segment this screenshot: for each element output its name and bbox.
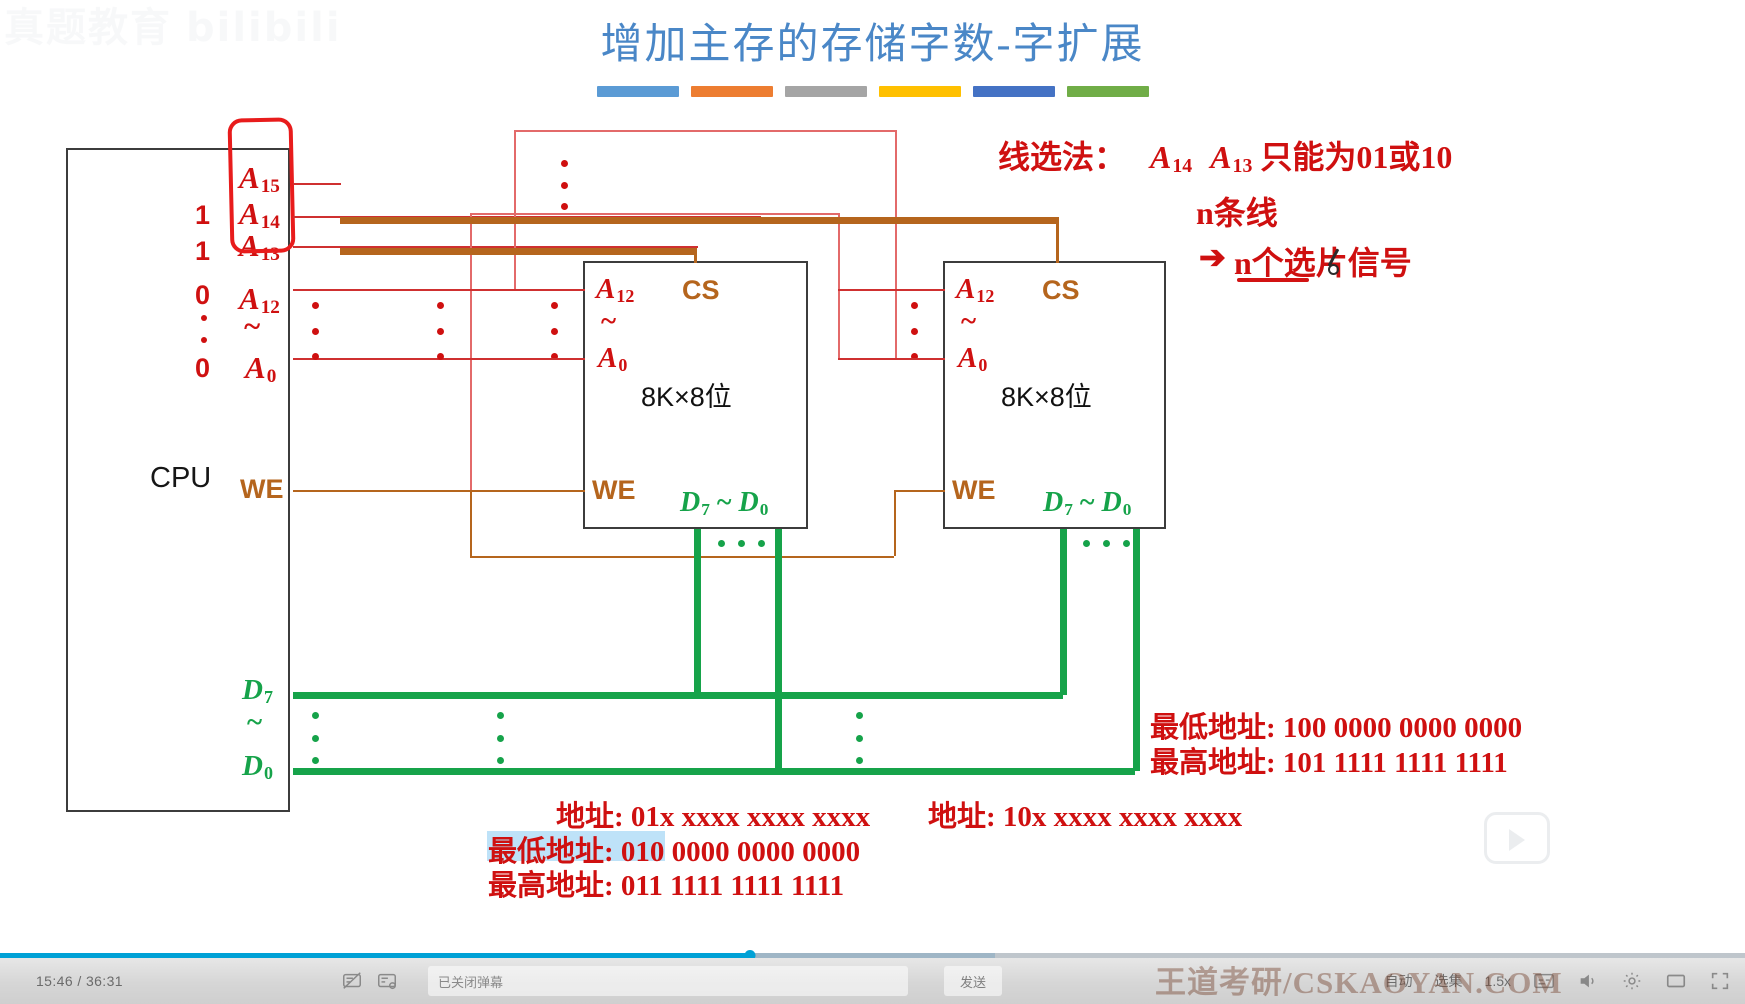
- send-danmaku-button[interactable]: 发送: [944, 966, 1002, 996]
- left-chip-highest-address-label: 最高地址:: [488, 870, 614, 902]
- wire-we-right-chip: [894, 490, 945, 492]
- annotation-arrow: ➔: [1199, 238, 1226, 276]
- time-total: 36:31: [86, 973, 123, 989]
- data-bus-ellipsis-b: [497, 712, 504, 764]
- wire-data-left-chip-d0: [775, 529, 782, 771]
- wire-data-right-chip-d0: [1133, 529, 1140, 771]
- wire-top-bus: [514, 130, 895, 132]
- cpu-bit-a0: 0: [195, 355, 210, 382]
- cpu-bit-a14: 1: [195, 202, 210, 229]
- chip-right-data-pins: D7 ~ D0: [1043, 489, 1131, 518]
- cpu-bit-a13: 1: [195, 238, 210, 265]
- chip-right-addr-ellipsis: [911, 302, 918, 360]
- wire-we-from-cpu: [293, 490, 585, 492]
- data-bus-ellipsis-a: [312, 712, 319, 764]
- danmaku-settings-icon[interactable]: [376, 970, 398, 992]
- cpu-pin-we: WE: [240, 476, 284, 503]
- bilibili-tv-logo-icon: [1484, 812, 1550, 864]
- right-chip-address-pattern: 地址: 10x xxxx xxxx xxxx: [928, 793, 1242, 835]
- danmaku-off-icon[interactable]: [341, 970, 363, 992]
- send-button-label: 发送: [960, 972, 986, 991]
- danmaku-input[interactable]: 已关闭弹幕: [428, 966, 908, 996]
- wire-top-bus-right-drop: [895, 130, 897, 360]
- slide-canvas: 真题教育bilibili 增加主存的存储字数-字扩展 CPU A15 A14 A…: [0, 0, 1745, 1004]
- auto-play-toggle[interactable]: 自动: [1385, 971, 1413, 991]
- rule-segment-3: [785, 86, 867, 97]
- data-bus-ellipsis-right: [1083, 540, 1130, 547]
- right-chip-highest-address: 最高地址: 101 1111 1111 1111: [1150, 739, 1508, 781]
- chip-right-addr-tilde: ~: [960, 307, 977, 336]
- wire-cs-right-horizontal: [340, 217, 1058, 224]
- wire-cs-left-horizontal: [340, 248, 695, 255]
- wire-right-chip-a12: [838, 289, 945, 291]
- chip-left-addr-ellipsis: [551, 302, 558, 360]
- left-chip-highest-address-value: 011 1111 1111 1111: [621, 870, 844, 902]
- wire-data-main-d0: [293, 768, 1135, 775]
- addr-bus-ellipsis-a: [312, 302, 319, 360]
- chip-left-cs-pin: CS: [682, 277, 720, 304]
- annotation-line-select-label: 线选法：: [998, 139, 1126, 175]
- chip-right-addr-low: A0: [958, 344, 987, 374]
- rule-segment-6: [1067, 86, 1149, 97]
- annotation-line-select-row: 线选法： A14 A13 只能为01或10: [998, 132, 1452, 178]
- title-accent-rule: [597, 86, 1149, 97]
- addr-bus-ellipsis-top: [561, 160, 568, 210]
- data-bus-ellipsis-left: [718, 540, 765, 547]
- wire-rail-2-right-drop: [838, 213, 840, 360]
- chip-left-addr-high: A12: [596, 275, 634, 305]
- time-separator: /: [77, 973, 81, 989]
- subtitle-icon[interactable]: [1533, 970, 1555, 992]
- chip-right-we-pin: WE: [952, 477, 996, 504]
- annotation-a14: A14: [1150, 139, 1192, 175]
- wire-we-right-rise: [894, 490, 896, 556]
- widescreen-icon[interactable]: [1665, 970, 1687, 992]
- cpu-pin-a0: A0: [245, 352, 276, 386]
- annotation-n-lines: n条线: [1196, 188, 1278, 234]
- wire-we-branch-down: [470, 490, 472, 556]
- chip-left-data-pins: D7 ~ D0: [680, 489, 768, 518]
- left-chip-highest-address: 最高地址: 011 1111 1111 1111: [488, 862, 844, 904]
- wire-a15-stub: [293, 183, 341, 185]
- chip-left-addr-tilde: ~: [600, 307, 617, 336]
- video-player-controls: 15:46 / 36:31 已关闭弹幕 发送 自动 选集: [0, 958, 1745, 1004]
- wire-rail-2: [470, 213, 838, 215]
- wire-left-chip-a12: [293, 289, 585, 291]
- wire-we-lower-rail: [470, 556, 894, 558]
- rule-segment-5: [973, 86, 1055, 97]
- right-chip-highest-address-label: 最高地址:: [1150, 747, 1276, 779]
- cpu-pin-tilde: ~: [243, 310, 261, 341]
- addr-bus-ellipsis-b: [437, 302, 444, 360]
- cpu-bit-ellipsis: [200, 315, 207, 343]
- gear-icon[interactable]: [1621, 970, 1643, 992]
- time-current: 15:46: [36, 973, 73, 989]
- cpu-pin-data-tilde: ~: [246, 708, 263, 737]
- playback-time: 15:46 / 36:31: [36, 973, 123, 989]
- annotation-a13: A13: [1210, 139, 1252, 175]
- right-chip-highest-address-value: 101 1111 1111 1111: [1283, 747, 1508, 779]
- data-bus-ellipsis-c: [856, 712, 863, 764]
- cpu-label: CPU: [150, 464, 211, 493]
- playback-speed-button[interactable]: 1.5x: [1485, 973, 1511, 989]
- wire-cs-left-drop: [694, 248, 697, 263]
- wire-data-right-chip-d7: [1060, 529, 1067, 695]
- chip-right-capacity: 8K×8位: [1001, 384, 1092, 411]
- wire-cs-right-drop: [1056, 217, 1059, 263]
- wire-right-chip-a0: [838, 358, 945, 360]
- danmaku-placeholder: 已关闭弹幕: [438, 972, 503, 991]
- rule-segment-4: [879, 86, 961, 97]
- cpu-pin-d7: D7: [242, 676, 273, 706]
- cpu-pin-d0: D0: [242, 752, 273, 782]
- rule-segment-2: [691, 86, 773, 97]
- chip-right-addr-high: A12: [956, 275, 994, 305]
- volume-icon[interactable]: [1577, 970, 1599, 992]
- annotation-conclusion-underline: [1237, 278, 1309, 282]
- page-title: 增加主存的存储字数-字扩展: [0, 10, 1745, 71]
- episode-list-button[interactable]: 选集: [1435, 971, 1463, 991]
- wire-top-bus-left-drop: [514, 130, 516, 290]
- cpu-bit-a12: 0: [195, 282, 210, 309]
- wire-data-main-d7: [293, 692, 1063, 699]
- highlight-a15-a13: [227, 117, 295, 253]
- chip-right-cs-pin: CS: [1042, 277, 1080, 304]
- wire-data-left-chip-d7: [694, 529, 701, 695]
- rule-segment-1: [597, 86, 679, 97]
- chip-left-capacity: 8K×8位: [641, 384, 732, 411]
- chip-left-we-pin: WE: [592, 477, 636, 504]
- fullscreen-icon[interactable]: [1709, 970, 1731, 992]
- chip-left-addr-low: A0: [598, 344, 627, 374]
- player-right-controls: 自动 选集 1.5x: [1385, 970, 1731, 992]
- annotation-condition: 只能为01或10: [1260, 139, 1452, 175]
